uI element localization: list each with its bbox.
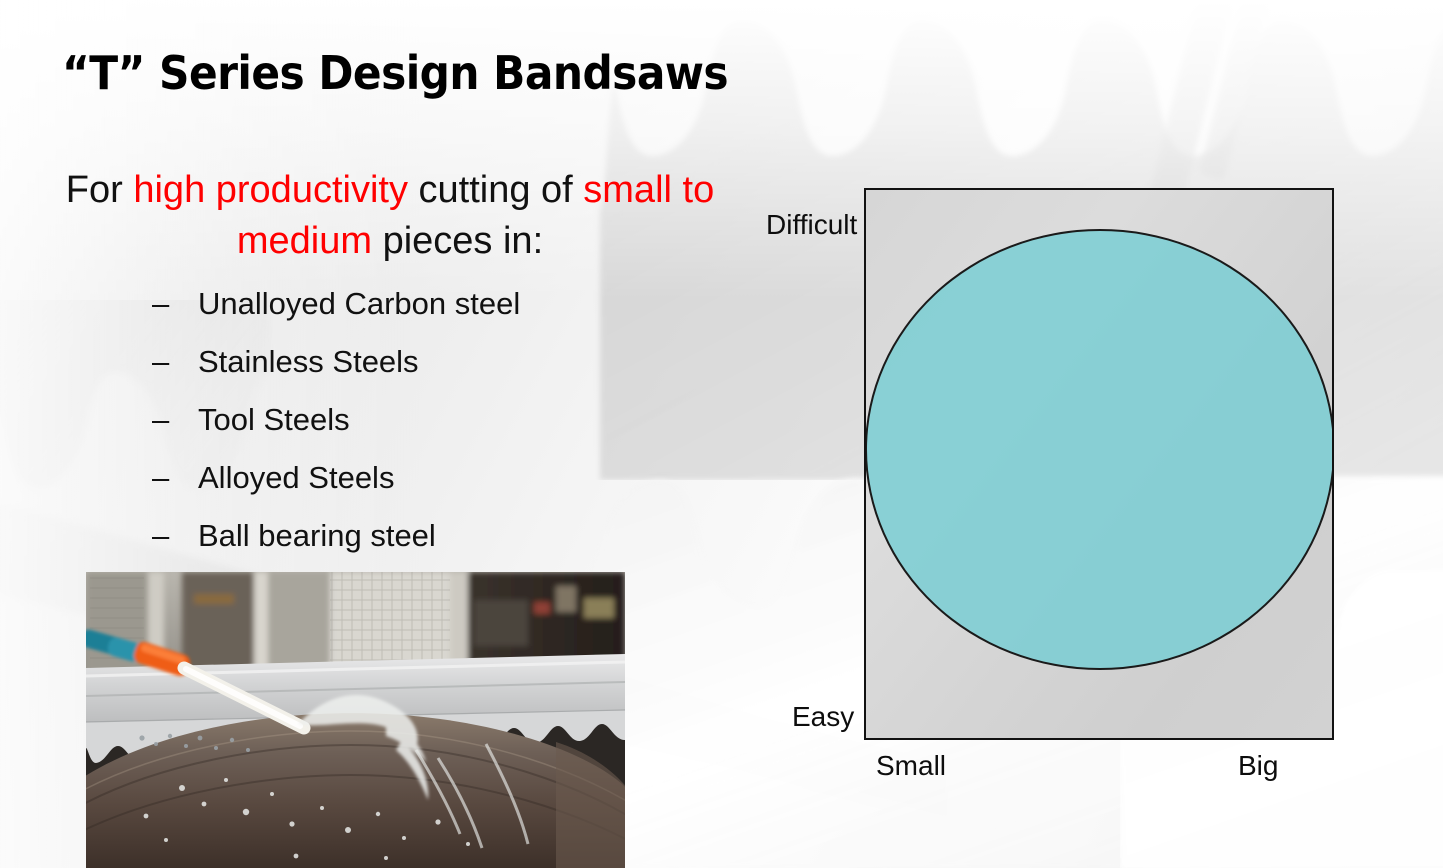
- bandsaw-cutting-photo: [86, 572, 625, 868]
- lead-paragraph: For high productivity cutting of small t…: [60, 165, 720, 267]
- page-title: “T” Series Design Bandsaws: [62, 46, 728, 100]
- bullet-dash-icon: –: [152, 287, 198, 321]
- chart-y-axis-top-label: Difficult: [766, 209, 857, 241]
- chart-x-axis-right-label: Big: [1238, 750, 1278, 782]
- material-list: – Unalloyed Carbon steel – Stainless Ste…: [152, 287, 712, 577]
- list-item: – Unalloyed Carbon steel: [152, 287, 712, 345]
- list-item-label: Ball bearing steel: [198, 519, 436, 553]
- capability-chart: [864, 188, 1334, 740]
- lead-line1-prefix: For: [66, 169, 134, 211]
- lead-highlight-productivity: high productivity: [133, 169, 408, 211]
- bullet-dash-icon: –: [152, 403, 198, 437]
- photo-image: [86, 572, 625, 868]
- bullet-dash-icon: –: [152, 461, 198, 495]
- list-item-label: Tool Steels: [198, 403, 350, 437]
- list-item: – Alloyed Steels: [152, 461, 712, 519]
- list-item: – Ball bearing steel: [152, 519, 712, 577]
- list-item-label: Alloyed Steels: [198, 461, 394, 495]
- slide-canvas: “T” Series Design Bandsaws For high prod…: [0, 0, 1443, 868]
- lead-line1-suffix: cutting of: [408, 169, 573, 211]
- list-item: – Stainless Steels: [152, 345, 712, 403]
- bullet-dash-icon: –: [152, 519, 198, 553]
- chart-x-axis-left-label: Small: [876, 750, 946, 782]
- chart-application-envelope: [865, 229, 1334, 670]
- list-item-label: Unalloyed Carbon steel: [198, 287, 520, 321]
- lead-line2-suffix: pieces in:: [372, 220, 543, 262]
- chart-y-axis-bottom-label: Easy: [792, 701, 854, 733]
- list-item-label: Stainless Steels: [198, 345, 419, 379]
- list-item: – Tool Steels: [152, 403, 712, 461]
- bullet-dash-icon: –: [152, 345, 198, 379]
